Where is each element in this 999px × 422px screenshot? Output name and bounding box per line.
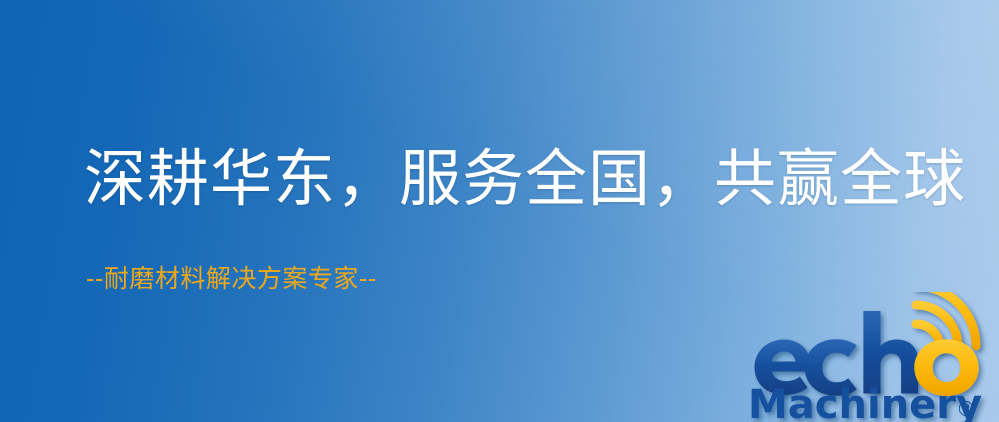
logo-tagline: Machinery [748, 382, 982, 422]
logo-svg: Machinery ® [744, 292, 999, 422]
echo-machinery-logo[interactable]: Machinery ® [744, 292, 999, 422]
banner-subtitle: --耐磨材料解决方案专家-- [86, 266, 377, 291]
logo-trademark-symbol: ® [956, 397, 976, 421]
banner-headline: 深耕华东，服务全国，共赢全球 [84, 148, 966, 210]
hero-banner: 深耕华东，服务全国，共赢全球 --耐磨材料解决方案专家-- [0, 0, 999, 422]
